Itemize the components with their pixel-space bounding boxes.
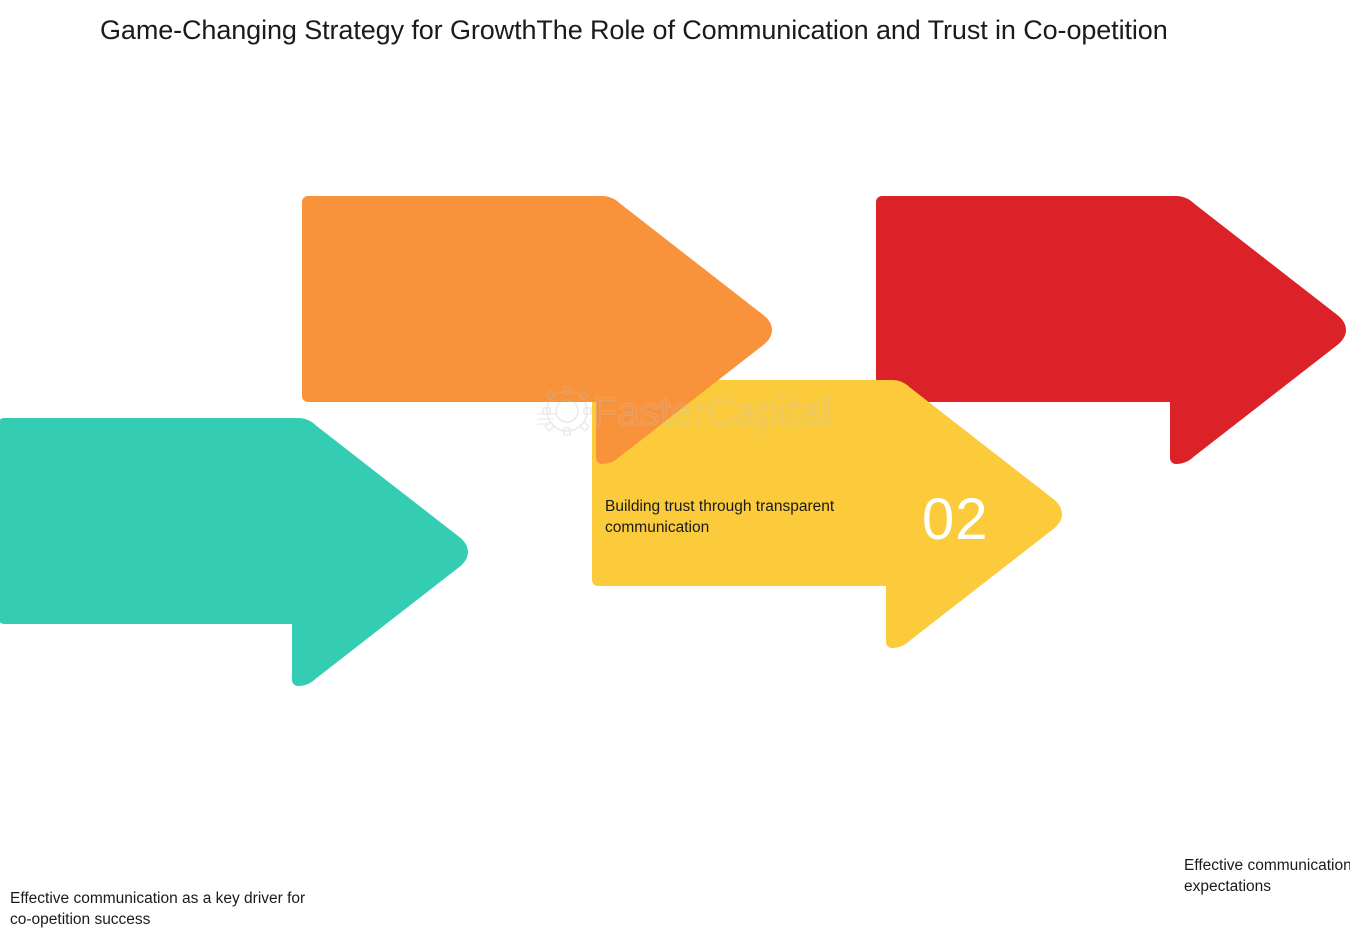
step-02-number: 02 (922, 491, 989, 549)
infographic-canvas: Game-Changing Strategy for GrowthThe Rol… (0, 0, 1350, 759)
step-02-label: Building trust through transparent commu… (605, 496, 905, 538)
page-title: Game-Changing Strategy for GrowthThe Rol… (100, 12, 1190, 49)
step-01-label: Effective communication as a key driver … (10, 888, 330, 930)
step-01-number: 01 (334, 883, 401, 941)
step-03-label: Effective communication to align goals a… (1184, 855, 1350, 897)
process-step-01[interactable]: Effective communication as a key driver … (0, 418, 472, 686)
arrow-shape-01 (0, 418, 472, 686)
